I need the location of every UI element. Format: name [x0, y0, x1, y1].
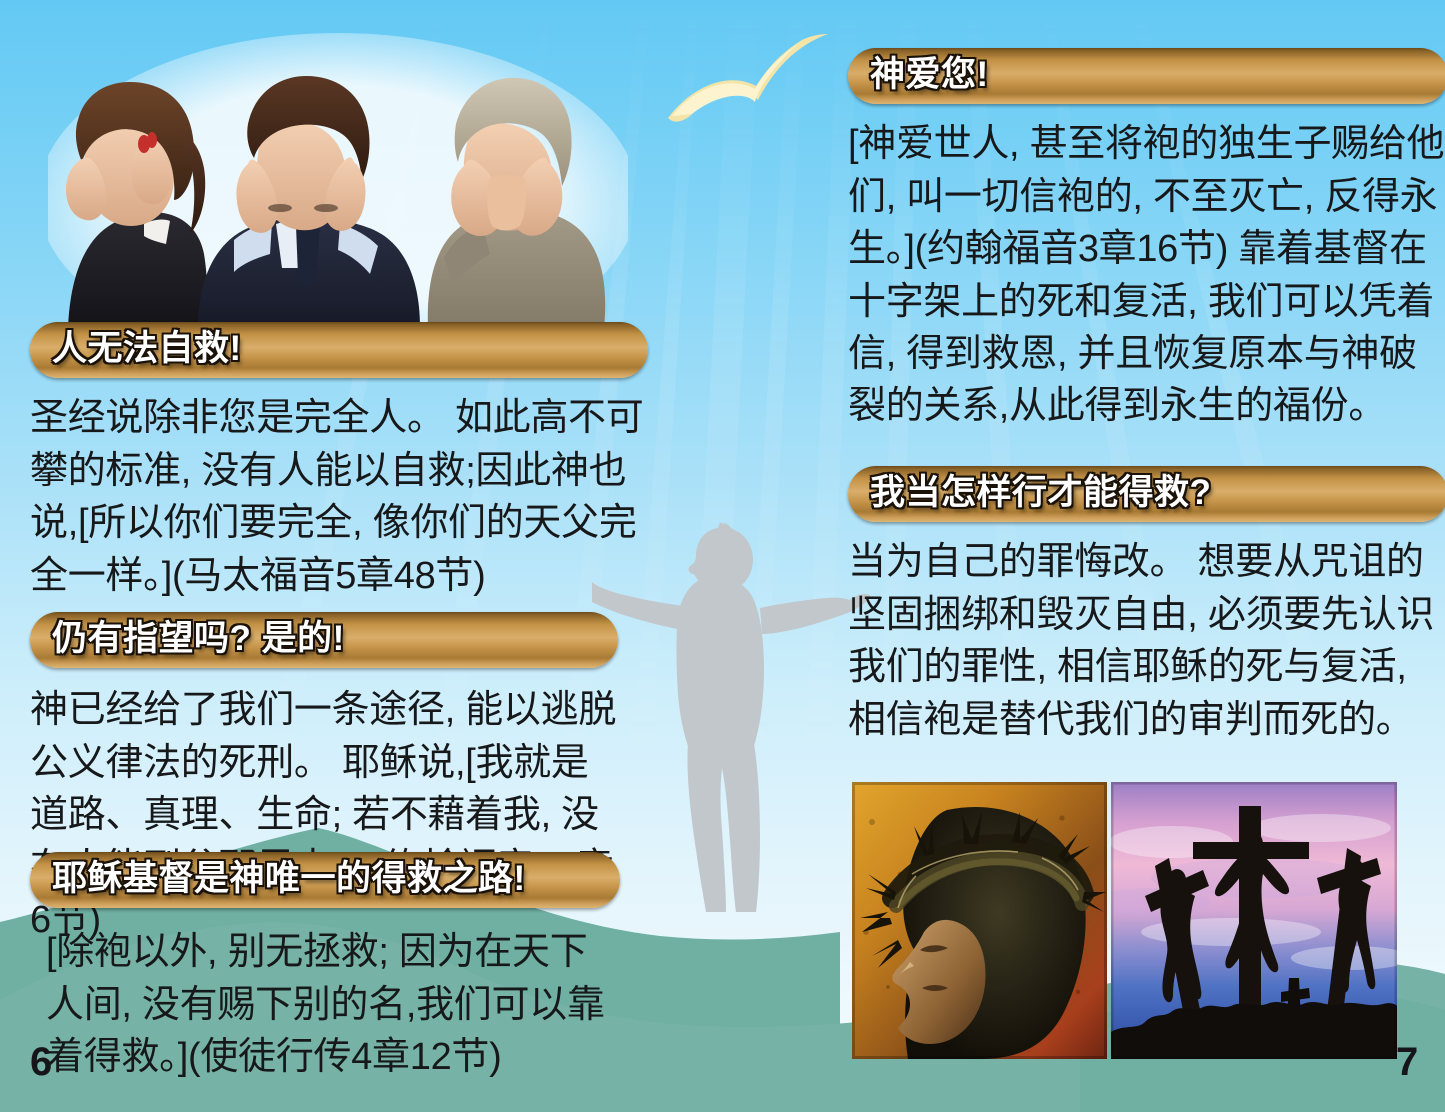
section-god-loves-you: 神爱您! [神爱世人, 甚至将袍的独生子赐给他们, 叫一切信袍的, 不至灭亡, … — [848, 48, 1445, 433]
section-jesus-only-way: 耶稣基督是神唯一的得救之路! [除袍以外, 别无拯救; 因为在天下人间, 没有赐… — [30, 852, 620, 1084]
page-number-left: 6 — [30, 1040, 52, 1085]
heading-god-loves-you: 神爱您! — [870, 54, 1426, 95]
banner-cannot-save-self: 人无法自救! — [30, 322, 648, 378]
body-jesus-only-way: [除袍以外, 别无拯救; 因为在天下人间, 没有赐下别的名,我们可以靠着得救。]… — [46, 926, 606, 1083]
heading-still-hope: 仍有指望吗? 是的! — [52, 618, 596, 659]
three-crosses-sunset-photo — [1111, 782, 1397, 1059]
banner-how-to-be-saved: 我当怎样行才能得救? — [848, 466, 1445, 522]
body-how-to-be-saved: 当为自己的罪悔改。 想要从咒诅的坚固捆绑和毁灭自由, 必须要先认识我们的罪性, … — [848, 536, 1445, 746]
jesus-crown-of-thorns-photo — [852, 782, 1107, 1059]
banner-still-hope: 仍有指望吗? 是的! — [30, 612, 618, 668]
flying-bird-icon — [660, 20, 840, 140]
section-cannot-save-self: 人无法自救! 圣经说除非您是完全人。 如此高不可攀的标准, 没有人能以自救;因此… — [30, 322, 648, 602]
body-cannot-save-self: 圣经说除非您是完全人。 如此高不可攀的标准, 没有人能以自救;因此神也说,[所以… — [30, 392, 648, 602]
banner-jesus-only-way: 耶稣基督是神唯一的得救之路! — [30, 852, 620, 908]
section-how-to-be-saved: 我当怎样行才能得救? 当为自己的罪悔改。 想要从咒诅的坚固捆绑和毁灭自由, 必须… — [848, 466, 1445, 746]
heading-jesus-only-way: 耶稣基督是神唯一的得救之路! — [52, 858, 598, 899]
left-page-column: 人无法自救! 圣经说除非您是完全人。 如此高不可攀的标准, 没有人能以自救;因此… — [30, 0, 670, 1112]
body-god-loves-you: [神爱世人, 甚至将袍的独生子赐给他们, 叫一切信袍的, 不至灭亡, 反得永生。… — [848, 118, 1445, 433]
heading-cannot-save-self: 人无法自救! — [52, 328, 626, 369]
banner-god-loves-you: 神爱您! — [848, 48, 1445, 104]
page-number-right: 7 — [1396, 1040, 1418, 1085]
tract-spread-page: 人无法自救! 圣经说除非您是完全人。 如此高不可攀的标准, 没有人能以自救;因此… — [0, 0, 1445, 1112]
heading-how-to-be-saved: 我当怎样行才能得救? — [870, 472, 1426, 513]
right-page-photo-row — [852, 782, 1397, 1059]
